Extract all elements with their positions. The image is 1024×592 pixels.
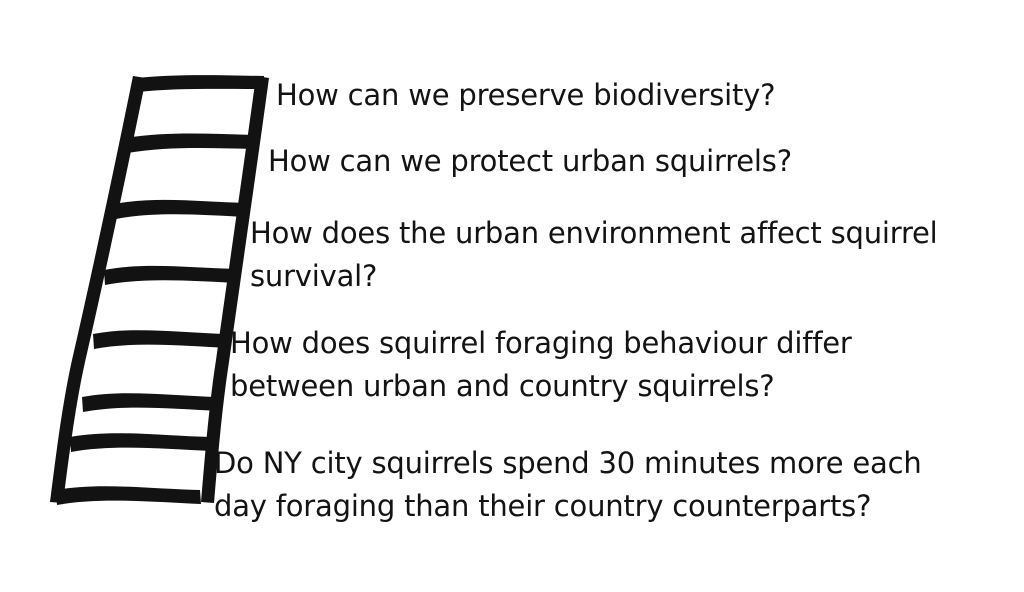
ladder-rung-5 xyxy=(104,266,239,285)
ladder-rung-4 xyxy=(93,330,230,349)
research-question-1: How can we preserve biodiversity? xyxy=(276,74,976,117)
ladder-rung-1 xyxy=(56,486,201,505)
research-question-4: How does squirrel foraging behaviour dif… xyxy=(230,322,930,408)
ladder-rail-left xyxy=(50,76,146,503)
research-question-5: Do NY city squirrels spend 30 minutes mo… xyxy=(214,442,974,528)
ladder-rails xyxy=(50,76,269,503)
ladder-rung-2 xyxy=(70,433,212,452)
research-question-2: How can we protect urban squirrels? xyxy=(268,140,968,183)
figure-canvas: How can we preserve biodiversity? How ca… xyxy=(0,0,1024,592)
ladder-rungs xyxy=(56,75,265,505)
ladder-rung-7 xyxy=(126,134,257,154)
ladder-rung-8 xyxy=(137,75,265,92)
ladder-rung-6 xyxy=(115,200,248,219)
research-question-3: How does the urban environment affect sq… xyxy=(250,212,980,298)
ladder-rung-3 xyxy=(82,393,221,412)
